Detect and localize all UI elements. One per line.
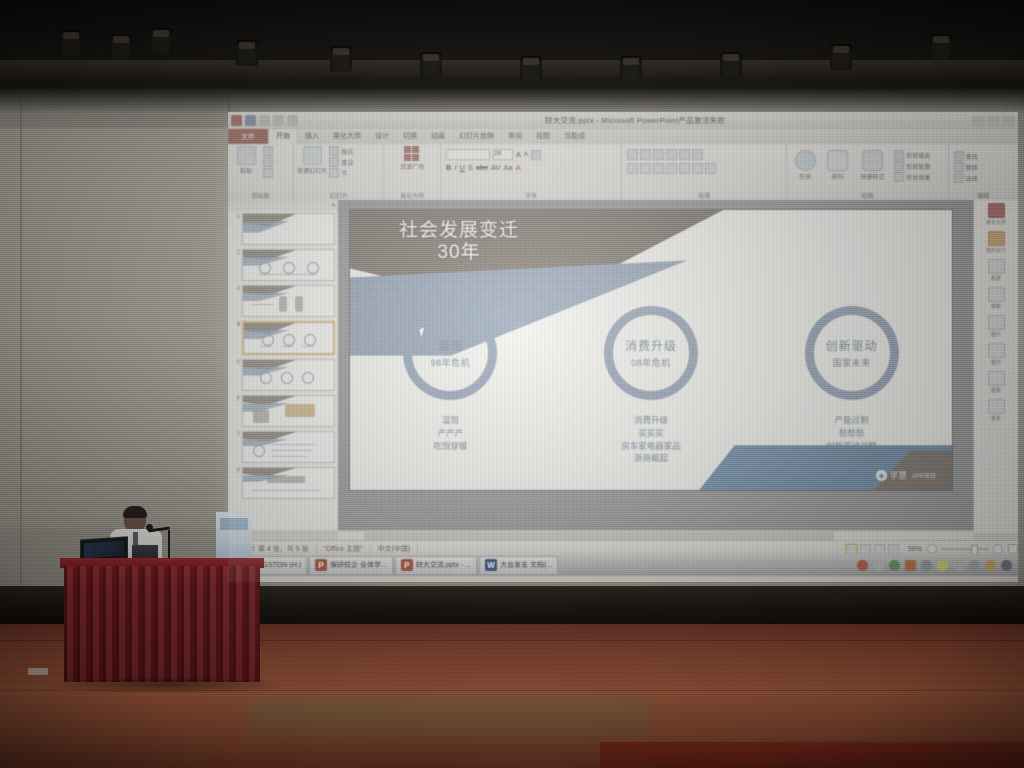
windows-taskbar[interactable]: KINGSTON (H:) P 保研校企 全体学... P 财大交流.pptx … [228,554,1018,576]
chart-icon [988,371,1005,386]
tab-design[interactable]: 设计 [368,130,396,144]
reset-icon [329,157,339,167]
new-icon [988,259,1005,274]
circle-title-3: 创新驱动 [826,337,878,354]
shape-effects-icon [894,172,904,182]
circle-title-1: 温饱 [437,337,463,354]
tab-insert[interactable]: 插入 [298,130,326,144]
tab-home[interactable]: 开始 [268,128,298,144]
ribbon-tabs[interactable]: 文件 开始 插入 美化大师 设计 切换 动画 幻灯片放映 审阅 视图 当能成 [228,129,1018,144]
justify-icon[interactable] [666,163,677,174]
circle-subtitle-2: 08年危机 [631,356,671,369]
font-color-icon[interactable]: A [516,163,521,172]
side-panel-item-diagram[interactable]: 图示 [974,343,1018,366]
more-icon [988,399,1005,414]
shape-outline-label: 形状轮廓 [906,162,930,171]
thumbnail-slide-5[interactable]: 5 [228,357,338,393]
column-1-line-1: 温饱 [433,414,467,427]
quick-styles-button[interactable]: 快速样式 [856,150,888,181]
close-icon[interactable] [1002,116,1015,126]
side-panel-item-more[interactable]: 更多 [974,399,1018,422]
wall-seam [20,88,22,608]
select-icon [954,173,964,183]
column-2-line-4: 浙商崛起 [621,452,681,465]
ribbon-group-drawing: 形状 排列 快速样式 形状填充 [787,144,948,202]
ribbon-group-paragraph: 段落 [622,144,787,202]
stage-lamp [330,46,352,72]
beautify-side-panel[interactable]: 美化大师 我的设计 新建 模板 [973,200,1018,533]
podium-shadow [40,676,290,694]
stage-lamp [720,52,742,78]
column-1-line-3: 吃饱穿暖 [433,440,467,453]
thumbnail-number: 6 [231,395,240,403]
side-panel-label: 我的设计 [986,247,1006,254]
side-panel-item-my-design[interactable]: 我的设计 [974,231,1018,254]
redo-icon[interactable] [273,115,284,126]
window-title: 财大交流.pptx - Microsoft PowerPoint产品激活失败 [298,115,972,126]
select-button[interactable]: 选择 [954,173,978,183]
tab-view[interactable]: 视图 [529,130,557,144]
minimize-icon[interactable] [972,116,985,126]
thumbnail-preview [242,359,335,391]
select-label: 选择 [966,174,978,183]
projection-screen: 财大交流.pptx - Microsoft PowerPoint产品激活失败 文… [228,112,1018,582]
find-button[interactable]: 查找 [954,151,978,161]
align-left-icon[interactable] [627,163,638,174]
side-panel-item-image[interactable]: 图片 [974,315,1018,338]
close-pane-icon[interactable]: ✕ [331,202,336,209]
align-text-icon[interactable] [692,163,703,174]
section-label: 节 [341,169,347,178]
editor-body: ✕ 1 2 [228,200,1018,530]
column-3-line-1: 产能过剩 [819,414,884,427]
circle-logo-icon: ◉ [876,470,887,481]
arrange-icon [827,150,848,171]
zoom-level[interactable]: 58% [903,546,927,553]
align-center-icon[interactable] [640,163,651,174]
slide-title-line1: 社会发展变迁 [399,220,519,241]
paste-label: 粘贴 [240,166,252,175]
volume-icon[interactable] [953,560,964,571]
stage-lamp [236,40,258,66]
shrink-font-icon[interactable]: A [524,152,528,158]
slide-canvas-area[interactable]: 社会发展变迁 30年 温饱 98年危机 温饱 [338,200,974,530]
replace-icon [954,162,964,172]
powerpoint-logo-icon [231,115,242,126]
quick-styles-icon [862,150,883,171]
quick-access-toolbar[interactable] [228,115,298,126]
side-panel-label: 美化大师 [986,219,1006,226]
layout-icon [329,146,339,156]
circle-subtitle-3: 国家未来 [833,356,871,369]
new-slide-icon [303,146,322,165]
flag-icon[interactable] [985,560,996,571]
chrome-icon[interactable] [937,560,948,571]
taskbar-item-label: 大会发言 文档(... [500,560,552,570]
presenter-hair [123,506,147,518]
shapes-icon [795,150,816,171]
section-button[interactable]: 节 [329,168,353,178]
lighting-truss [0,60,1024,78]
thumbnail-slide-6[interactable]: 6 [228,393,338,429]
section-icon [329,168,339,178]
side-panel-label: 更多 [991,415,1001,422]
language-status[interactable]: 中文(中国) [371,544,419,554]
strikethrough-icon[interactable]: abc [476,163,488,172]
font-name-input[interactable] [446,149,490,160]
zoom-out-icon[interactable] [927,544,937,554]
column-text-3[interactable]: 产能过剩 愁愁愁 创新驱动战略 12年7大战新产业 [819,414,884,465]
decrease-indent-icon[interactable] [653,149,664,160]
slide-logo: ◉ 学慧 APP项目 [876,470,936,481]
power-icon[interactable] [1001,560,1012,571]
resource-plaza-icon [404,146,421,161]
column-text-2[interactable]: 消费升级 买买买 房车家电器家品 浙商崛起 [621,414,681,465]
underline-icon[interactable]: U [459,163,464,172]
side-panel-item-chart[interactable]: 图表 [974,371,1018,394]
normal-view-icon[interactable] [846,544,857,555]
layout-button[interactable]: 版式 [329,146,353,156]
shapes-button[interactable]: 形状 [792,150,818,181]
taskbar-item-label: 财大交流.pptx - ... [416,560,471,570]
text-direction-icon[interactable] [692,149,703,160]
floor-cable [28,668,48,675]
copy-icon [263,157,273,167]
paste-icon [237,146,256,165]
cloud-icon[interactable] [873,560,884,571]
wall-top-shadow [0,88,1024,114]
shape-effects-button[interactable]: 形状效果 [894,172,930,182]
quick-styles-label: 快速样式 [860,172,884,181]
new-slide-label: 新建幻灯片 [297,166,327,175]
arrange-label: 排列 [831,172,843,181]
ribbon-group-font: 28 A A B I U S abc AV Aa [441,144,622,202]
logo-text: 学慧 [890,470,907,481]
taskbar-item-powerpoint-1[interactable]: P 保研校企 全体学... [309,556,393,575]
template-icon [988,287,1005,302]
stage-lamp [150,28,172,54]
tab-beautify[interactable]: 美化大师 [326,130,368,144]
current-slide[interactable]: 社会发展变迁 30年 温饱 98年危机 温饱 [350,210,952,490]
thumbnail-slide-7[interactable]: 7 [228,429,338,465]
stage-lamp [520,56,542,82]
thumbnail-preview [242,395,335,427]
customize-qat-icon[interactable] [287,115,298,126]
slide-title-line2: 30年 [364,242,554,264]
powerpoint-icon: P [401,559,413,571]
tab-review[interactable]: 审阅 [501,130,529,144]
slide-sorter-icon[interactable] [860,544,871,555]
shapes-label: 形状 [799,172,811,181]
line-spacing-icon[interactable] [679,149,690,160]
powerpoint-window[interactable]: 财大交流.pptx - Microsoft PowerPoint产品激活失败 文… [228,112,1018,582]
thumbnail-slide-2[interactable]: 2 [228,247,338,283]
slide-thumbnail-pane[interactable]: ✕ 1 2 [228,200,339,530]
side-panel-item-beautify[interactable]: 美化大师 [974,203,1018,226]
beautify-icon [988,203,1005,218]
reading-view-icon[interactable] [874,544,885,555]
thumbnail-preview-selected [242,321,335,355]
side-panel-label: 图片 [991,331,1001,338]
thumbnail-slide-3[interactable]: 3 [228,283,338,319]
logo-subtext: APP项目 [912,471,936,480]
shield-icon[interactable] [889,560,900,571]
character-spacing-icon[interactable]: AV [491,163,500,172]
side-panel-item-new[interactable]: 新建 [974,259,1018,282]
bullets-icon[interactable] [627,149,638,160]
arrange-button[interactable]: 排列 [824,150,850,181]
thumbnail-number: 5 [231,359,240,367]
copy-button[interactable] [263,157,273,167]
shape-fill-label: 形状填充 [906,151,930,160]
text-shadow-icon[interactable]: S [468,163,473,172]
stage-lamp [830,44,852,70]
bold-icon[interactable]: B [446,163,451,172]
thumbnail-slide-4[interactable]: 4 [228,319,338,357]
thumbnail-number: 7 [231,431,240,439]
save-icon[interactable] [245,115,256,126]
thumbnail-number: 2 [231,249,240,257]
format-painter-button[interactable] [263,168,273,178]
window-controls[interactable] [972,116,1018,126]
stage-lamp [930,34,952,60]
stage-lamp [110,34,132,60]
thumbnail-preview [242,249,335,281]
microphone [146,524,180,560]
taskbar-item-label: 保研校企 全体学... [330,560,387,570]
zoom-in-icon[interactable] [993,544,1003,554]
column-2-line-3: 房车家电器家品 [621,440,681,453]
slide-title[interactable]: 社会发展变迁 30年 [364,220,554,265]
find-icon [954,151,964,161]
zoom-slider[interactable] [941,548,989,550]
word-icon: W [485,559,497,571]
shape-fill-button[interactable]: 形状填充 [894,150,930,160]
align-right-icon[interactable] [653,163,664,174]
column-3-line-3: 创新驱动战略 [819,440,884,453]
slide-column-1[interactable]: 温饱 98年危机 温饱 产产产 吃饱穿暖 [350,306,551,465]
ribbon-group-beautify: 资源广场 美化大师 [384,144,440,202]
image-icon [988,315,1005,330]
auditorium-scene: 财大交流.pptx - Microsoft PowerPoint产品激活失败 文… [0,0,1024,768]
stage-lamp [60,30,82,56]
column-3-line-2: 愁愁愁 [819,427,884,440]
cut-icon [263,146,273,156]
column-1-line-2: 产产产 [433,427,467,440]
thumbnail-preview [242,431,335,463]
convert-to-smartart-icon[interactable] [705,163,716,174]
shape-outline-icon [894,161,904,171]
taskbar-item-powerpoint-2[interactable]: P 财大交流.pptx - ... [395,556,477,575]
columns-icon[interactable] [679,163,690,174]
thumbnail-number: 4 [231,321,240,329]
circle-title-2: 消费升级 [625,337,677,354]
resource-plaza-button[interactable]: 资源广场 [399,146,425,171]
fit-to-window-icon[interactable] [1008,544,1018,554]
title-bar: 财大交流.pptx - Microsoft PowerPoint产品激活失败 [228,112,1018,129]
floor-reflection [248,700,648,740]
wall-panel [0,128,232,528]
antivirus-icon[interactable] [969,560,980,571]
slide-columns: 温饱 98年危机 温饱 产产产 吃饱穿暖 [350,306,952,465]
shape-effects-label: 形状效果 [906,173,930,182]
slideshow-icon[interactable] [888,544,899,555]
grow-font-icon[interactable]: A [516,150,521,159]
column-2-line-2: 买买买 [621,427,681,440]
thumbnail-pane-header[interactable]: ✕ [228,200,338,211]
ribbon-group-slides: 新建幻灯片 版式 重设 [294,144,384,202]
replace-label: 替换 [966,163,978,172]
change-case-icon[interactable]: Aa [503,163,512,172]
thumbnail-preview [242,467,335,499]
font-size-input[interactable]: 28 [493,149,513,160]
network-icon[interactable] [921,560,932,571]
stage-lamp [620,56,642,82]
cut-button[interactable] [263,146,273,156]
side-panel-label: 图表 [991,387,1001,394]
floor-edge [600,742,1024,768]
circle-subtitle-1: 98年危机 [431,356,471,369]
reset-label: 重设 [341,158,353,167]
powerpoint-icon: P [315,559,327,571]
thumbnail-preview [242,285,335,317]
sogou-input-icon[interactable] [857,560,868,571]
replace-button[interactable]: 替换 [954,162,978,172]
column-2-line-1: 消费升级 [621,414,681,427]
my-design-icon [988,231,1005,246]
side-panel-label: 图示 [991,359,1001,366]
undo-icon[interactable] [259,115,270,126]
format-painter-icon [263,168,273,178]
taskbar-item-word[interactable]: W 大会发言 文档(... [479,556,558,575]
tab-addin[interactable]: 当能成 [557,130,592,144]
clear-formatting-icon[interactable] [531,150,541,160]
column-text-1[interactable]: 温饱 产产产 吃饱穿暖 [433,414,467,452]
thumbnail-number: 8 [231,467,240,475]
slide-column-3[interactable]: 创新驱动 国家未来 产能过剩 愁愁愁 创新驱动战略 12年7大战新产业 [751,306,952,465]
podium-skirt [64,566,260,682]
ribbon-group-clipboard: 粘贴 [228,144,294,202]
side-panel-item-template[interactable]: 模板 [974,287,1018,310]
thumbnail-preview [242,213,335,245]
tab-file[interactable]: 文件 [228,129,268,144]
circle-shape-1[interactable]: 温饱 98年危机 [403,306,497,400]
theme-status[interactable]: "Office 主题" [317,544,371,554]
resource-plaza-label: 资源广场 [400,162,424,171]
tab-transitions[interactable]: 切换 [396,130,424,144]
thumbnail-number: 1 [231,213,240,221]
increase-indent-icon[interactable] [666,149,677,160]
numbering-icon[interactable] [640,149,651,160]
stage-lamp [420,52,442,78]
shape-outline-button[interactable]: 形状轮廓 [894,161,930,171]
paste-button[interactable]: 粘贴 [233,146,259,175]
tab-slideshow[interactable]: 幻灯片放映 [452,130,501,144]
thumbnail-slide-1[interactable]: 1 [228,211,338,247]
column-3-line-4: 12年7大战新产业 [819,452,884,465]
shape-fill-icon [894,150,904,160]
diagram-icon [988,343,1005,358]
tab-animations[interactable]: 动画 [424,130,452,144]
ribbon[interactable]: 粘贴 [228,144,1018,201]
slide-column-2[interactable]: 消费升级 08年危机 消费升级 买买买 房车家电器家品 浙商崛起 [551,306,752,465]
thumbnail-number: 3 [231,285,240,293]
new-slide-button[interactable]: 新建幻灯片 [299,146,325,175]
system-tray[interactable] [857,560,1016,571]
ribbon-group-editing: 查找 替换 选择 编辑 [949,144,1018,202]
restore-icon[interactable] [987,116,1000,126]
find-label: 查找 [966,152,978,161]
security-icon[interactable] [905,560,916,571]
thumbnail-slide-8[interactable]: 8 [228,465,338,501]
side-panel-label: 新建 [991,275,1001,282]
circle-shape-2[interactable]: 消费升级 08年危机 [604,306,698,400]
side-panel-label: 模板 [991,303,1001,310]
view-buttons[interactable] [846,544,903,555]
circle-shape-3[interactable]: 创新驱动 国家未来 [805,306,899,400]
italic-icon[interactable]: I [454,163,456,172]
reset-button[interactable]: 重设 [329,157,353,167]
layout-label: 版式 [341,147,353,156]
scrollbar-thumb[interactable] [364,532,834,540]
